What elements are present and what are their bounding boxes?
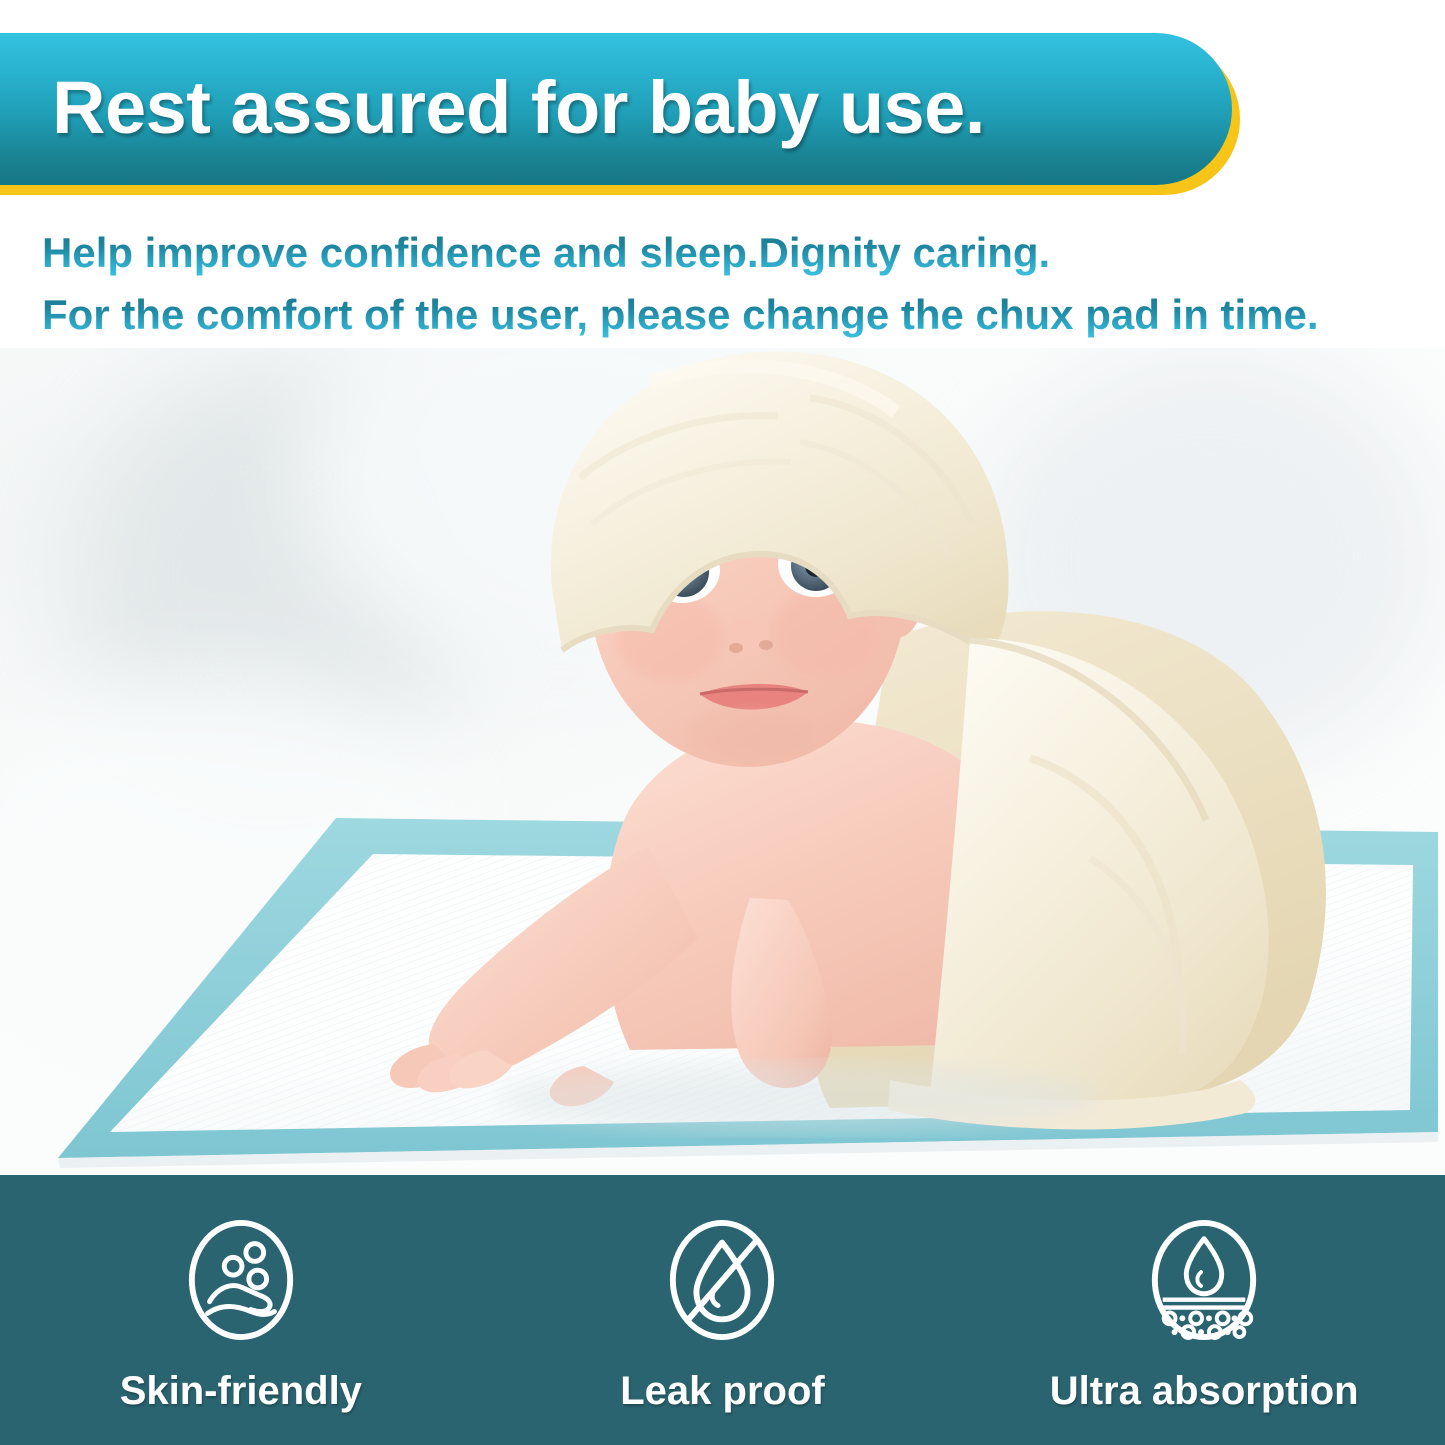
- baby-chin-shadow: [688, 708, 812, 760]
- baby-nostril: [759, 640, 773, 650]
- product-feature-infographic: Rest assured for baby use. Help improve …: [0, 0, 1445, 1445]
- absorbing-layers-drop-icon: [1145, 1217, 1263, 1343]
- feature-item-skin-friendly: Skin-friendly: [41, 1217, 441, 1414]
- feature-item-ultra-absorption: Ultra absorption: [1004, 1217, 1404, 1414]
- headline-banner: Rest assured for baby use.: [0, 33, 1245, 193]
- corner-notch: [1395, 0, 1445, 36]
- baby-nostril: [729, 643, 743, 653]
- subtitle-line-2: For the comfort of the user, please chan…: [42, 284, 1422, 346]
- banner-pill: Rest assured for baby use.: [0, 33, 1232, 185]
- subtitle-block: Help improve confidence and sleep.Dignit…: [42, 222, 1422, 346]
- subtitle-line-1: Help improve confidence and sleep.Dignit…: [42, 222, 1422, 284]
- no-water-drop-icon: [663, 1217, 781, 1343]
- feature-item-leak-proof: Leak proof: [522, 1217, 922, 1414]
- baby-illustration: [330, 348, 1390, 1138]
- product-photo: [0, 348, 1445, 1175]
- feature-bar: Skin-friendly Leak proof: [0, 1175, 1445, 1445]
- feature-label: Skin-friendly: [120, 1369, 362, 1414]
- feature-label: Leak proof: [620, 1369, 824, 1414]
- feature-label: Ultra absorption: [1050, 1369, 1359, 1414]
- hand-with-bubbles-icon: [182, 1217, 300, 1343]
- baby-contact-shadow: [500, 1064, 1100, 1132]
- banner-title: Rest assured for baby use.: [52, 65, 985, 150]
